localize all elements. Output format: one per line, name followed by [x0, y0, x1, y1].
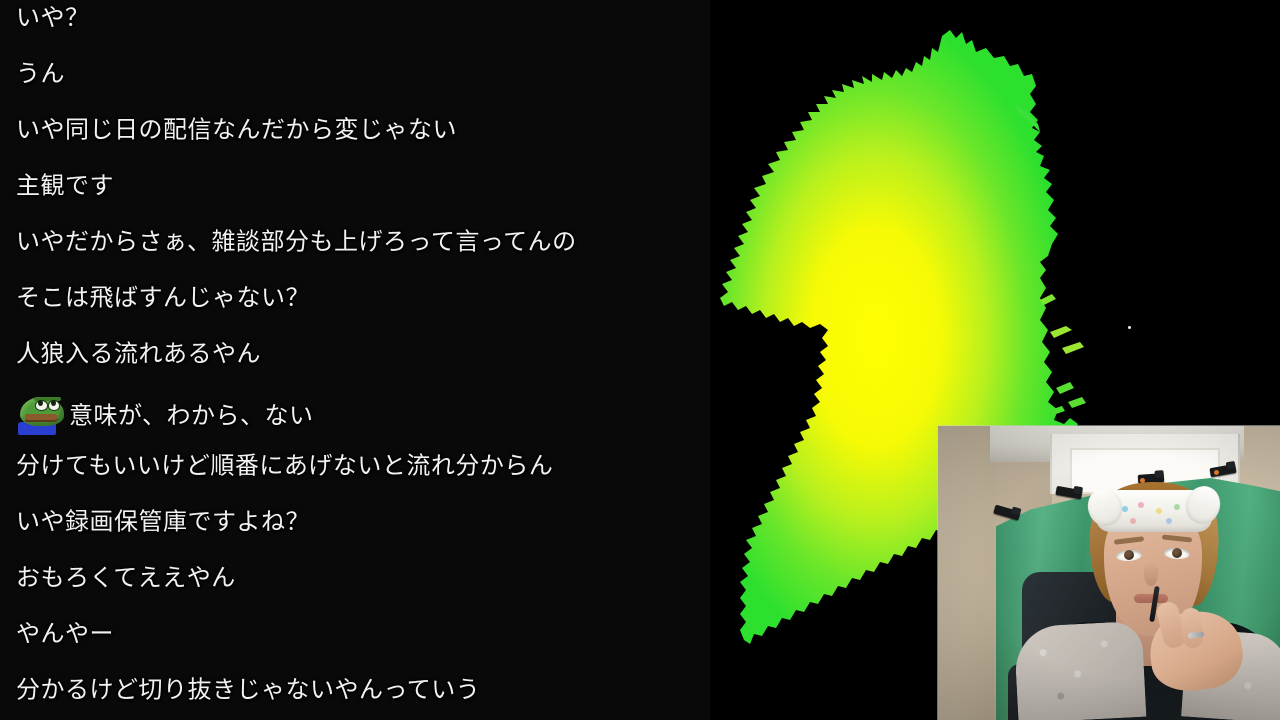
headband-dot [1138, 502, 1144, 508]
webcam-fleece-left-shoulder [1014, 621, 1147, 720]
webcam-iris-right [1172, 548, 1182, 558]
stream-layout: いや？ うん いや同じ日の配信なんだから変じゃない 主観です いやだからさぁ、雑… [0, 0, 1280, 720]
pepe-sadge-emote [16, 395, 68, 435]
chat-message: そこは飛ばすんじゃない？ [16, 283, 706, 313]
webcam-nose [1144, 562, 1158, 586]
webcam-wall-left [938, 426, 996, 720]
webcam-iris-left [1124, 550, 1134, 560]
chat-panel[interactable]: いや？ うん いや同じ日の配信なんだから変じゃない 主観です いやだからさぁ、雑… [0, 0, 710, 720]
webcam-mouth [1134, 594, 1168, 603]
chat-message: やんやー [16, 619, 706, 649]
headband-dot [1166, 518, 1172, 524]
chat-message: 意味が、わから、ない [16, 395, 706, 425]
chat-message: うん [16, 59, 706, 89]
chat-message: 分かるけど切り抜きじゃないやんっていう [16, 675, 706, 705]
headband-dot [1122, 506, 1128, 512]
headband-dot [1174, 504, 1180, 510]
webcam-finger [1180, 607, 1203, 649]
chat-message: おもろくてええやん [16, 563, 706, 593]
headband-dot [1156, 508, 1162, 514]
map-marker-dot [1128, 326, 1131, 329]
chat-message: 人狼入る流れあるやん [16, 339, 706, 369]
streamer-webcam-overlay[interactable] [938, 426, 1280, 720]
chat-message: 分けてもいいけど順番にあげないと流れ分からん [16, 451, 706, 481]
chat-message: いや同じ日の配信なんだから変じゃない [16, 115, 706, 145]
chat-message: いや？ [16, 3, 706, 33]
chat-message: 主観です [16, 171, 706, 201]
clothespin-icon [1055, 486, 1082, 499]
chat-message: いやだからさぁ、雑談部分も上げろって言ってんの [16, 227, 706, 257]
headband-dot [1130, 518, 1136, 524]
chat-message: いや録画保管庫ですよね？ [16, 507, 706, 537]
clothespin-accent [1214, 470, 1219, 475]
